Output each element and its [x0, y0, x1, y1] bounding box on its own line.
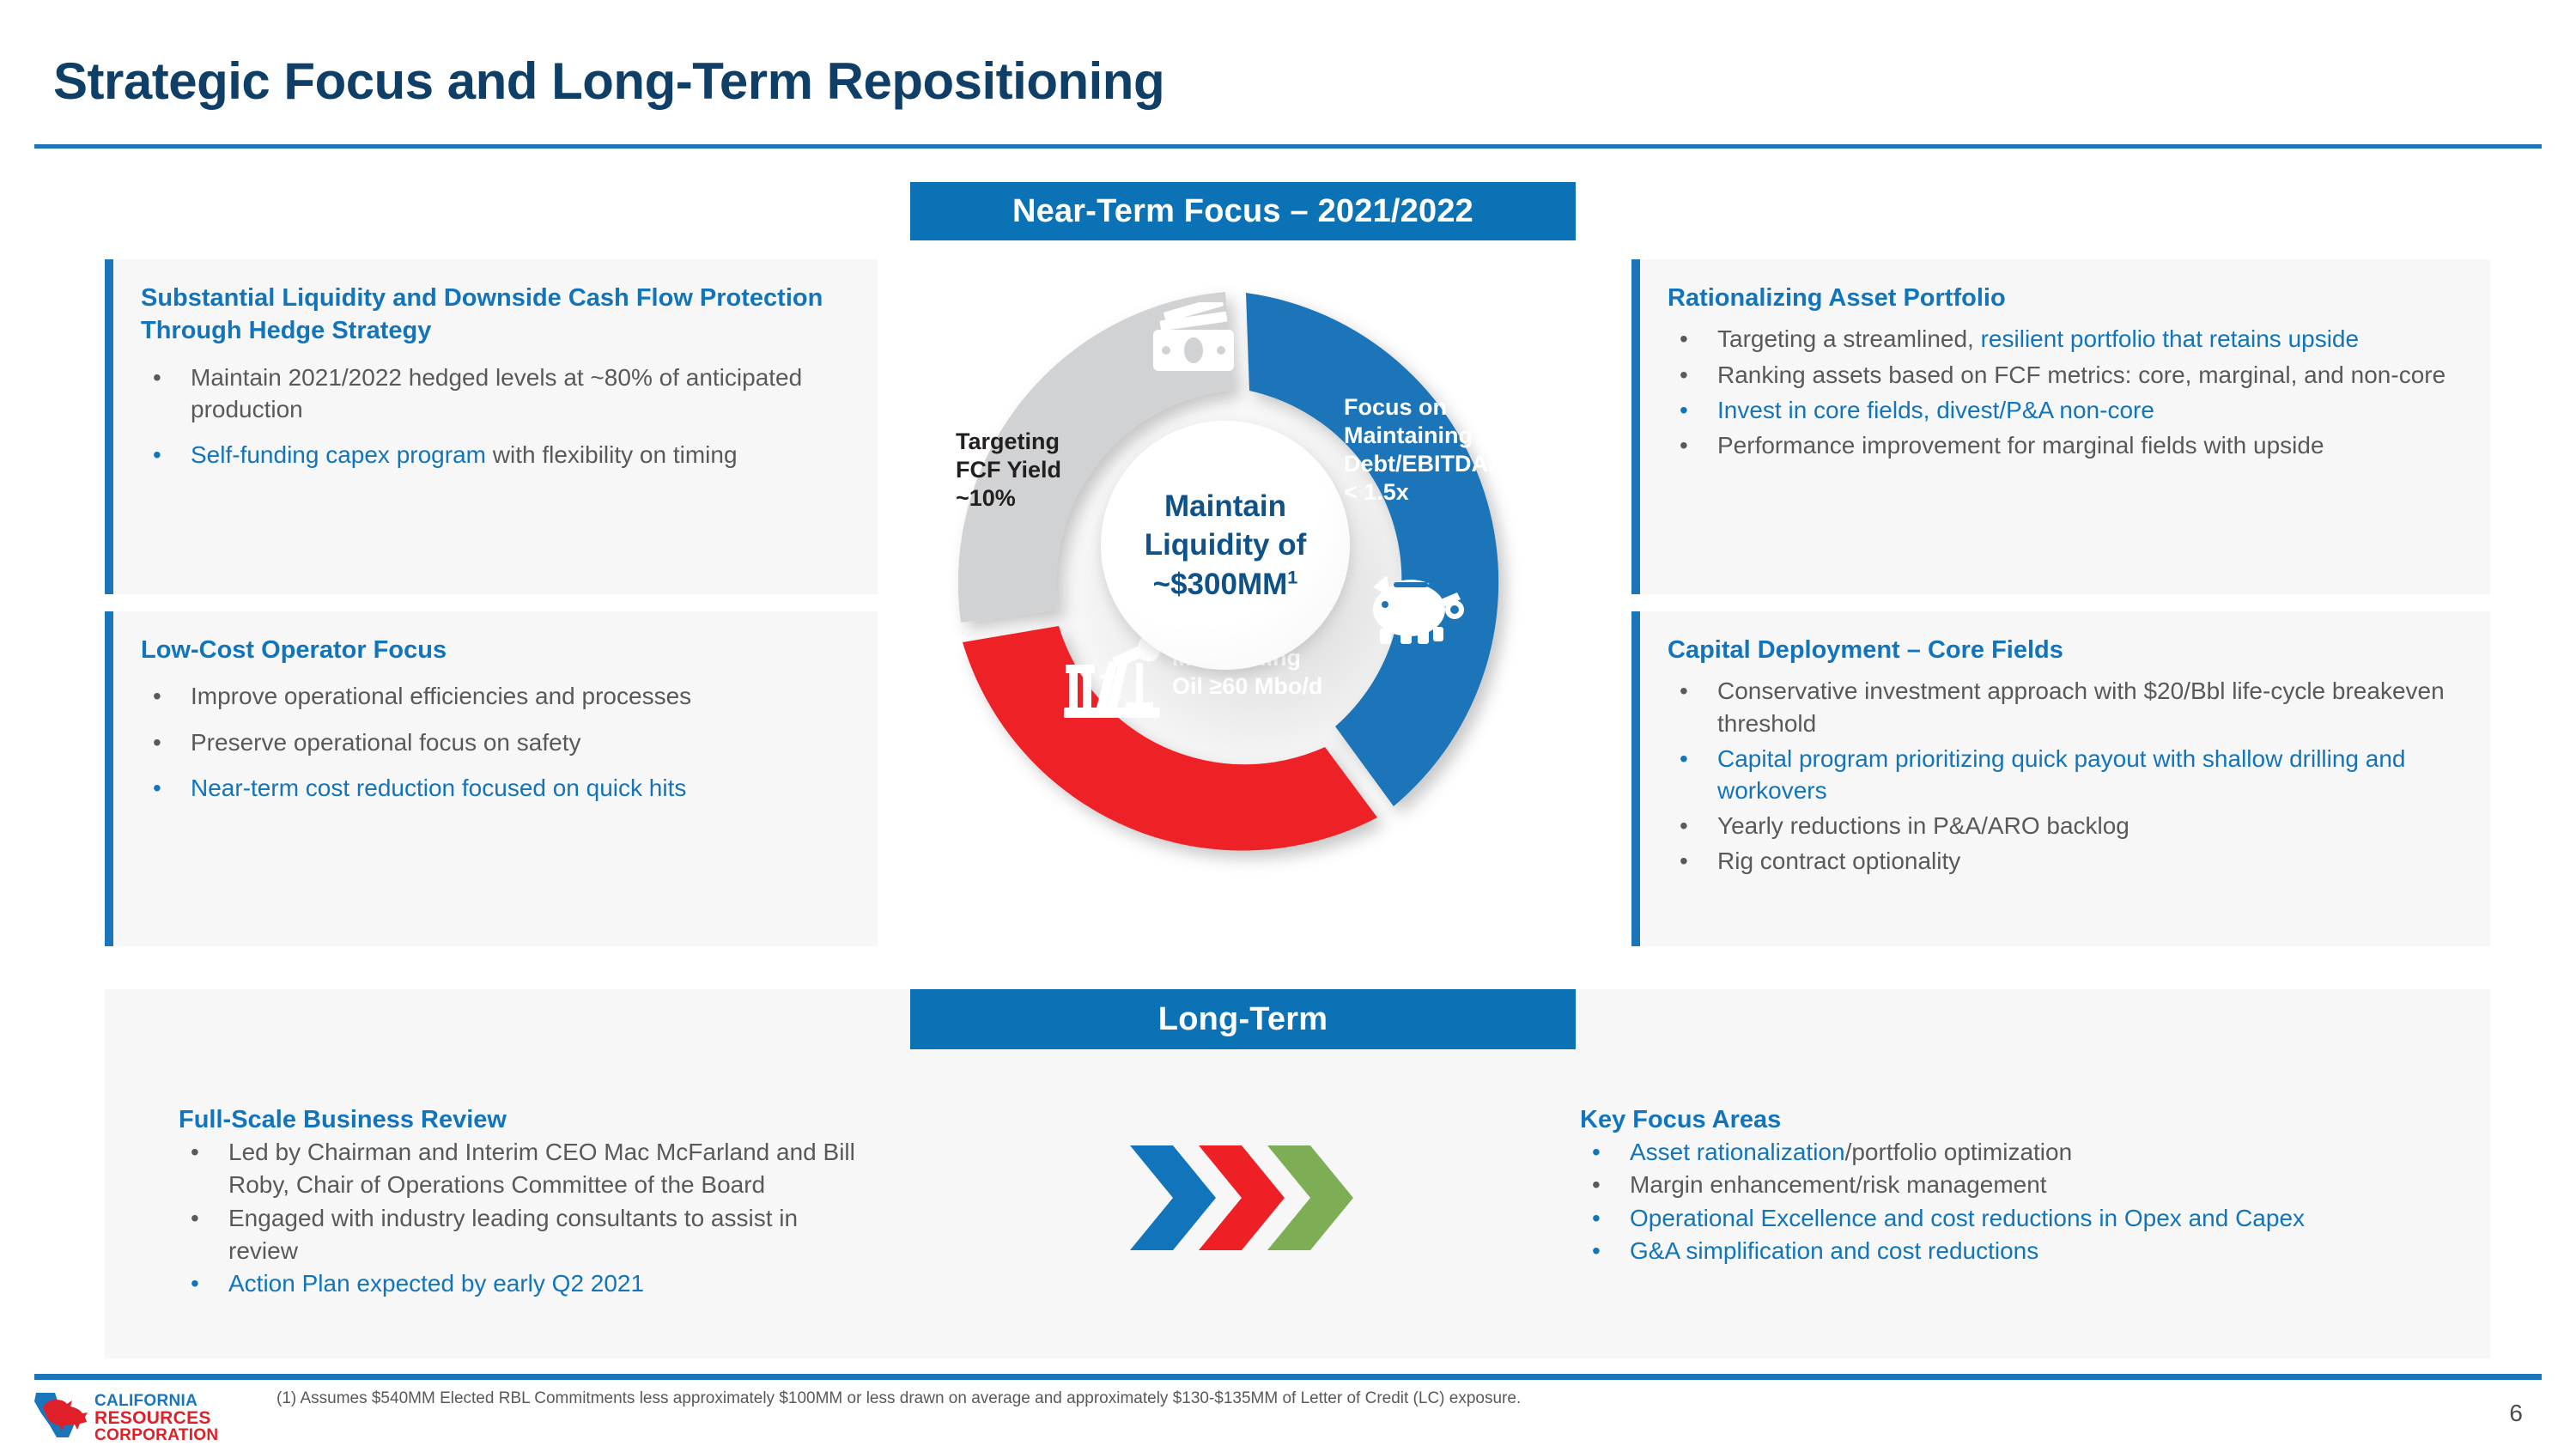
list-item-text: resilient portfolio that retains upside	[1981, 325, 2359, 352]
list-item: •G&A simplification and cost reductions	[1580, 1235, 2456, 1267]
bullet-marker: •	[1680, 394, 1688, 426]
bullet-marker: •	[191, 1202, 199, 1235]
logo-line-2: RESOURCES	[94, 1409, 218, 1427]
list-item: •Self-funding capex program with flexibi…	[141, 439, 847, 471]
list-item: •Targeting a streamlined, resilient port…	[1668, 323, 2459, 355]
list-item: •Preserve operational focus on safety	[141, 726, 847, 758]
bullet-marker: •	[1680, 845, 1688, 877]
page-title: Strategic Focus and Long-Term Reposition…	[53, 52, 1164, 111]
bullet-marker: •	[1592, 1202, 1601, 1235]
california-bear-logo-icon	[29, 1391, 91, 1439]
donut-center-label: Maintain Liquidity of ~$300MM1	[1145, 487, 1307, 605]
list-item-text: G&A simplification and cost reductions	[1630, 1237, 2038, 1264]
list-item: •Ranking assets based on FCF metrics: co…	[1668, 359, 2459, 391]
panel-rationalizing-asset-portfolio: Rationalizing Asset Portfolio •Targeting…	[1631, 259, 2490, 594]
list-item-text: Self-funding capex program	[191, 441, 486, 468]
list-item-text: Rig contract optionality	[1717, 848, 1960, 874]
logo-line-1: CALIFORNIA	[94, 1393, 218, 1409]
list-item: •Rig contract optionality	[1668, 845, 2459, 877]
panel-substantial-liquidity: Substantial Liquidity and Downside Cash …	[105, 259, 878, 594]
panel-low-cost-operator-focus: Low-Cost Operator Focus •Improve operati…	[105, 611, 878, 946]
donut-label-targeting-fcf-yield: Targeting FCF Yield ~10%	[956, 428, 1061, 513]
list-item: •Yearly reductions in P&A/ARO backlog	[1668, 810, 2459, 841]
list-item-text: Capital program prioritizing quick payou…	[1717, 745, 2406, 804]
list-item: •Conservative investment approach with $…	[1668, 675, 2459, 738]
bullet-list: •Maintain 2021/2022 hedged levels at ~80…	[141, 361, 847, 471]
footnote: (1) Assumes $540MM Elected RBL Commitmen…	[276, 1389, 1521, 1408]
list-item-text: Ranking assets based on FCF metrics: cor…	[1717, 361, 2445, 388]
bullet-list: •Led by Chairman and Interim CEO Mac McF…	[179, 1136, 866, 1301]
footer-divider	[34, 1374, 2542, 1380]
list-item-text: Engaged with industry leading consultant…	[228, 1205, 798, 1264]
footnote-marker: 1	[1287, 566, 1297, 587]
bullet-list: •Targeting a streamlined, resilient port…	[1668, 323, 2459, 461]
donut-label-debt-ebitdax: Focus on Maintaining Debt/EBITDAX < 1.5x	[1344, 393, 1504, 507]
logo-line-3: CORPORATION	[94, 1427, 218, 1443]
list-item: •Maintain 2021/2022 hedged levels at ~80…	[141, 361, 847, 425]
list-item-text: Conservative investment approach with $2…	[1717, 677, 2445, 736]
bullet-marker: •	[153, 439, 161, 471]
list-item-text: Invest in core fields, divest/P&A non-co…	[1717, 397, 2154, 423]
list-item-text: Action Plan expected by early Q2 2021	[228, 1270, 644, 1297]
panel-title: Substantial Liquidity and Downside Cash …	[141, 282, 847, 348]
list-item: •Margin enhancement/risk management	[1580, 1169, 2456, 1201]
chevrons-graphic	[1125, 1142, 1357, 1254]
long-term-banner: Long-Term	[910, 989, 1576, 1049]
panel-title: Capital Deployment – Core Fields	[1668, 634, 2459, 666]
list-item-text: /portfolio optimization	[1845, 1139, 2073, 1165]
list-item-text: Margin enhancement/risk management	[1630, 1171, 2047, 1198]
bullet-marker: •	[1592, 1235, 1601, 1267]
panel-title: Low-Cost Operator Focus	[141, 634, 847, 666]
logo-wordmark: CALIFORNIA RESOURCES CORPORATION	[94, 1393, 218, 1443]
list-item: •Improve operational efficiencies and pr…	[141, 680, 847, 712]
title-divider	[34, 144, 2542, 149]
list-item-text: Improve operational efficiencies and pro…	[191, 683, 691, 709]
bullet-marker: •	[153, 726, 161, 758]
list-item-text: Near-term cost reduction focused on quic…	[191, 775, 686, 801]
bullet-marker: •	[1680, 359, 1688, 391]
bullet-marker: •	[1592, 1136, 1601, 1169]
list-item-text: Led by Chairman and Interim CEO Mac McFa…	[228, 1139, 855, 1198]
bullet-list: •Conservative investment approach with $…	[1668, 675, 2459, 877]
bullet-list: •Asset rationalization/portfolio optimiz…	[1580, 1136, 2456, 1267]
company-logo: CALIFORNIA RESOURCES CORPORATION	[29, 1391, 235, 1441]
cash-icon	[1146, 302, 1241, 376]
piggy-bank-icon	[1361, 567, 1464, 649]
list-item-text: Preserve operational focus on safety	[191, 729, 580, 756]
near-term-banner: Near-Term Focus – 2021/2022	[910, 182, 1576, 240]
bullet-marker: •	[153, 772, 161, 804]
bullet-marker: •	[1680, 323, 1688, 355]
panel-title: Rationalizing Asset Portfolio	[1668, 282, 2459, 314]
bullet-marker: •	[1680, 743, 1688, 775]
chevron-blue-icon	[1130, 1145, 1216, 1250]
near-term-focus-donut-chart: Targeting FCF Yield ~10% Focus on Mainta…	[932, 283, 1584, 910]
bullet-marker: •	[153, 361, 161, 393]
list-item: •Action Plan expected by early Q2 2021	[179, 1267, 866, 1300]
bullet-marker: •	[1592, 1169, 1601, 1201]
list-item: •Asset rationalization/portfolio optimiz…	[1580, 1136, 2456, 1169]
block-title: Full-Scale Business Review	[179, 1106, 866, 1134]
bullet-marker: •	[153, 680, 161, 712]
list-item: •Led by Chairman and Interim CEO Mac McF…	[179, 1136, 866, 1202]
bullet-marker: •	[191, 1267, 199, 1300]
key-focus-areas-block: Key Focus Areas •Asset rationalization/p…	[1580, 1106, 2456, 1267]
list-item: •Capital program prioritizing quick payo…	[1668, 743, 2459, 806]
full-scale-business-review-block: Full-Scale Business Review •Led by Chair…	[179, 1106, 866, 1301]
list-item-text: Asset rationalization	[1630, 1139, 1845, 1165]
list-item: •Operational Excellence and cost reducti…	[1580, 1202, 2456, 1235]
list-item: •Engaged with industry leading consultan…	[179, 1202, 866, 1268]
bullet-marker: •	[1680, 429, 1688, 461]
list-item-text: Maintain 2021/2022 hedged levels at ~80%…	[191, 364, 802, 422]
list-item-text: Yearly reductions in P&A/ARO backlog	[1717, 812, 2129, 839]
panel-capital-deployment-core-fields: Capital Deployment – Core Fields •Conser…	[1631, 611, 2490, 946]
list-item-text: Operational Excellence and cost reductio…	[1630, 1205, 2305, 1231]
list-item-text: Performance improvement for marginal fie…	[1717, 432, 2324, 459]
bullet-list: •Improve operational efficiencies and pr…	[141, 680, 847, 804]
bullet-marker: •	[1680, 675, 1688, 707]
list-item: •Near-term cost reduction focused on qui…	[141, 772, 847, 804]
list-item: •Performance improvement for marginal fi…	[1668, 429, 2459, 461]
list-item-text: with flexibility on timing	[486, 441, 738, 468]
list-item-text: Targeting a streamlined,	[1717, 325, 1981, 352]
page-number: 6	[2509, 1400, 2523, 1427]
block-title: Key Focus Areas	[1580, 1106, 2456, 1134]
donut-center-circle: Maintain Liquidity of ~$300MM1	[1101, 421, 1350, 670]
bullet-marker: •	[1680, 810, 1688, 841]
bullet-marker: •	[191, 1136, 199, 1169]
list-item: •Invest in core fields, divest/P&A non-c…	[1668, 394, 2459, 426]
